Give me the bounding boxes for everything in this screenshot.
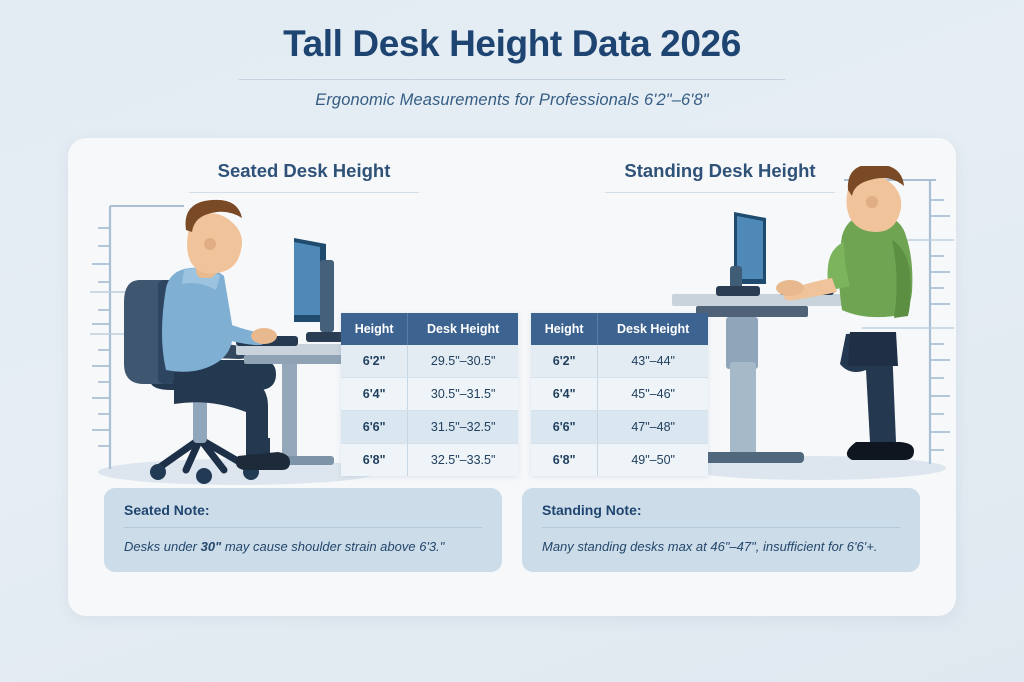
cell-height: 6'6"	[531, 411, 598, 444]
cell-height: 6'2"	[341, 345, 408, 378]
cell-desk-height: 45"–46"	[598, 378, 708, 411]
note-divider	[124, 527, 482, 528]
seated-desk-height-table: Height Desk Height 6'2" 29.5"–30.5" 6'4"…	[341, 313, 518, 476]
monitor	[716, 212, 766, 296]
table-header-row: Height Desk Height	[341, 313, 518, 345]
cell-height: 6'8"	[341, 444, 408, 477]
cell-desk-height: 31.5"–32.5"	[408, 411, 518, 444]
monitor-stand	[320, 260, 334, 332]
table-row: 6'2" 43"–44"	[531, 345, 708, 378]
table-header-row: Height Desk Height	[531, 313, 708, 345]
panel-heading-divider	[605, 192, 835, 193]
cell-desk-height: 47"–48"	[598, 411, 708, 444]
standing-note-text: Many standing desks max at 46"–47", insu…	[542, 539, 900, 554]
standing-desk-height-table: Height Desk Height 6'2" 43"–44" 6'4" 45"…	[531, 313, 708, 476]
person-shoe	[847, 442, 914, 460]
standing-note-box: Standing Note: Many standing desks max a…	[522, 488, 920, 572]
desk-leg	[282, 364, 297, 459]
chair-caster	[150, 464, 166, 480]
person-hand	[251, 328, 277, 344]
page-subtitle: Ergonomic Measurements for Professionals…	[0, 91, 1024, 110]
seated-note-title: Seated Note:	[124, 502, 482, 518]
column-header-height: Height	[531, 313, 598, 345]
table-row: 6'6" 31.5"–32.5"	[341, 411, 518, 444]
seated-note-box: Seated Note: Desks under 30" may cause s…	[104, 488, 502, 572]
person-shoe	[236, 452, 290, 470]
table-row: 6'8" 49"–50"	[531, 444, 708, 477]
cell-desk-height: 30.5"–31.5"	[408, 378, 518, 411]
table-row: 6'4" 45"–46"	[531, 378, 708, 411]
person-ear	[866, 196, 878, 208]
header-block: Tall Desk Height Data 2026 Ergonomic Mea…	[0, 0, 1024, 110]
table-row: 6'8" 32.5"–33.5"	[341, 444, 518, 477]
column-header-desk-height: Desk Height	[408, 313, 518, 345]
table-body: 6'2" 43"–44" 6'4" 45"–46" 6'6" 47"–48" 6…	[531, 345, 708, 476]
person-hand	[776, 280, 804, 296]
chair-caster	[196, 468, 212, 484]
table-row: 6'6" 47"–48"	[531, 411, 708, 444]
panel-heading-standing: Standing Desk Height	[520, 160, 920, 193]
monitor-display	[294, 242, 320, 315]
desk-apron	[696, 306, 808, 317]
table-header: Height Desk Height	[341, 313, 518, 345]
cell-desk-height: 29.5"–30.5"	[408, 345, 518, 378]
person-ear	[204, 238, 216, 250]
title-divider	[239, 79, 785, 80]
cell-desk-height: 32.5"–33.5"	[408, 444, 518, 477]
panel-heading-seated-label: Seated Desk Height	[104, 160, 504, 182]
desk-column-upper	[726, 317, 758, 369]
cell-height: 6'4"	[341, 378, 408, 411]
seated-note-text: Desks under 30" may cause shoulder strai…	[124, 539, 482, 554]
panel-heading-standing-label: Standing Desk Height	[520, 160, 920, 182]
cell-desk-height: 49"–50"	[598, 444, 708, 477]
page-title: Tall Desk Height Data 2026	[0, 22, 1024, 66]
standing-note-title: Standing Note:	[542, 502, 900, 518]
note-text-after: may cause shoulder strain above 6'3."	[221, 539, 444, 554]
table-row: 6'4" 30.5"–31.5"	[341, 378, 518, 411]
seated-person	[162, 200, 290, 470]
panel-heading-divider	[189, 192, 419, 193]
table-header: Height Desk Height	[531, 313, 708, 345]
cell-height: 6'6"	[341, 411, 408, 444]
column-header-desk-height: Desk Height	[598, 313, 708, 345]
person-hip	[848, 332, 898, 366]
note-divider	[542, 527, 900, 528]
monitor-base	[716, 286, 760, 296]
note-text-emphasis: 30"	[201, 539, 222, 554]
table-row: 6'2" 29.5"–30.5"	[341, 345, 518, 378]
panel-heading-seated: Seated Desk Height	[104, 160, 504, 193]
note-text-before: Desks under	[124, 539, 201, 554]
cell-height: 6'2"	[531, 345, 598, 378]
cell-height: 6'4"	[531, 378, 598, 411]
note-text-before: Many standing desks max at 46"–47", insu…	[542, 539, 877, 554]
cell-height: 6'8"	[531, 444, 598, 477]
desk-column-lower	[730, 362, 756, 454]
main-content-card: Seated Desk Height Standing Desk Height …	[68, 138, 956, 616]
column-header-height: Height	[341, 313, 408, 345]
table-body: 6'2" 29.5"–30.5" 6'4" 30.5"–31.5" 6'6" 3…	[341, 345, 518, 476]
cell-desk-height: 43"–44"	[598, 345, 708, 378]
